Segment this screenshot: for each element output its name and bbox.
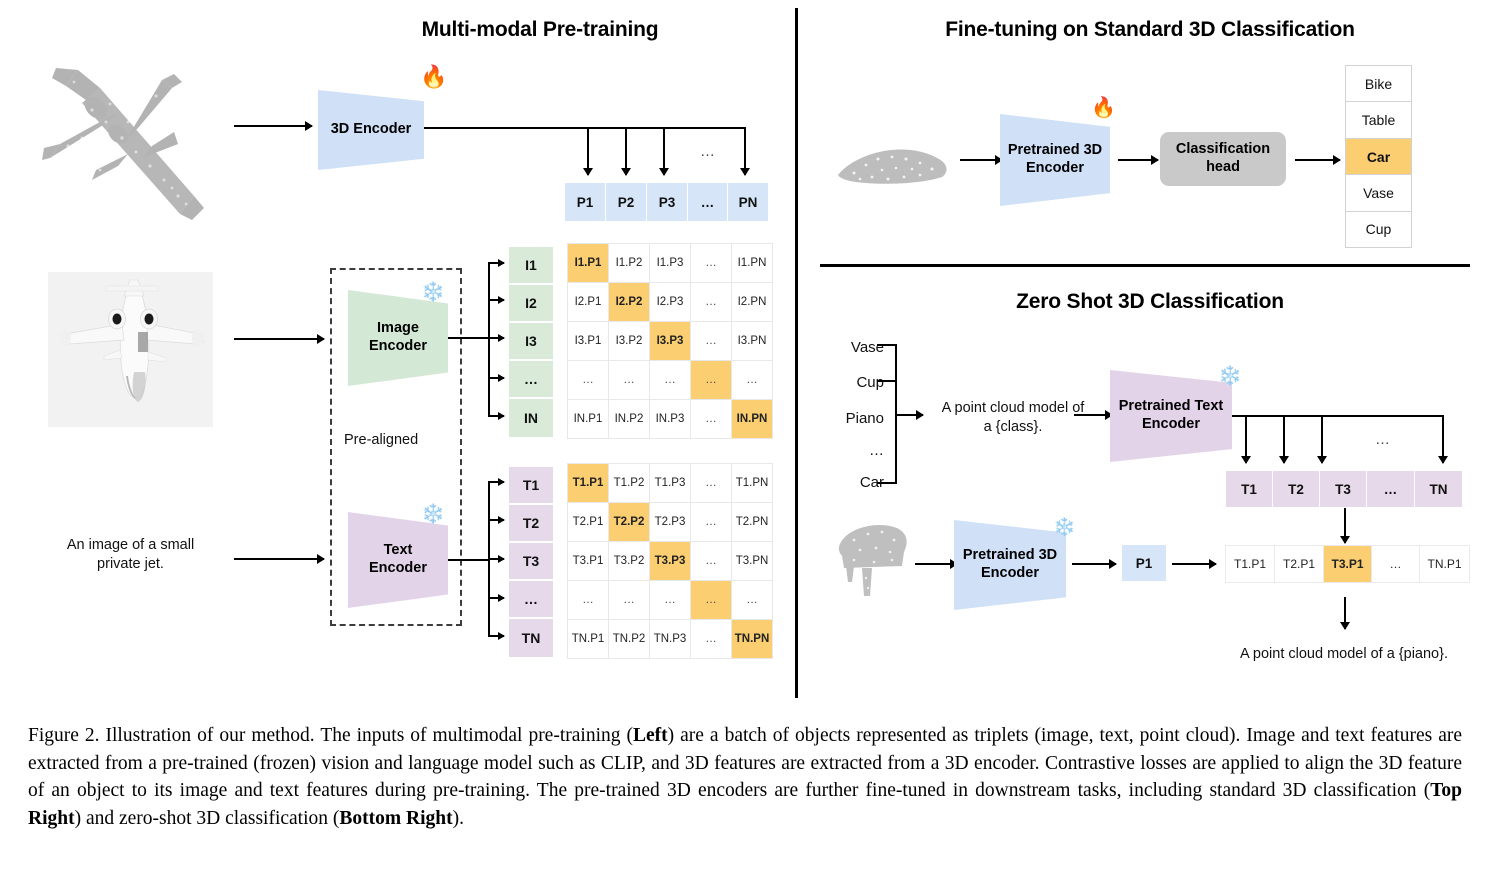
encoder-3d: 3D Encoder [318, 90, 424, 170]
text-token: T3 [1320, 471, 1367, 507]
image-matrix-cell: I1.P3 [650, 244, 690, 282]
input-text-caption: An image of a small private jet. [38, 536, 223, 574]
encoder-text: Text Encoder [348, 512, 448, 608]
image-label-column: I1 I2 I3 … IN [509, 247, 553, 437]
point-token: P3 [647, 183, 688, 221]
image-matrix-cell: I3.P1 [568, 322, 608, 360]
image-matrix-cell-diagonal: IN.PN [732, 400, 772, 438]
arrow-T3-to-scores [1344, 508, 1346, 543]
text-matrix-cell: … [650, 581, 690, 619]
score-cell: T2.P1 [1275, 546, 1323, 582]
image-matrix-cell: … [609, 361, 649, 399]
text-token: … [1367, 471, 1415, 507]
zeroshot-class-vase: Vase [822, 339, 884, 356]
arrow-to-I2 [488, 299, 504, 301]
point-token-row: P1 P2 P3 … PN [565, 183, 768, 221]
image-matrix-cell: … [650, 361, 690, 399]
text-token-row: T1 T2 T3 … TN [1226, 471, 1462, 507]
encoder-image: Image Encoder [348, 290, 448, 386]
figure-root: Multi-modal Pre-training [0, 0, 1490, 888]
airplane-point-cloud [22, 48, 227, 233]
point-token: PN [728, 183, 768, 221]
bus-ellipsis-3d: … [700, 142, 715, 162]
class-item-car[interactable]: Car [1346, 139, 1411, 175]
image-point-similarity-matrix: I1.P1I1.P2I1.P3…I1.PNI2.P1I2.P2I2.P3…I2.… [567, 243, 773, 439]
zeroshot-result: A point cloud model of a {piano}. [1204, 645, 1484, 664]
point-feature-p1: P1 [1122, 545, 1166, 581]
text-matrix-cell: T2.P1 [568, 503, 608, 541]
image-matrix-cell-diagonal: … [691, 361, 731, 399]
text-label: TN [509, 619, 553, 657]
text-matrix-cell: TN.P1 [568, 620, 608, 658]
score-cell: TN.P1 [1420, 546, 1469, 582]
arrow-piano-to-encoder [915, 563, 957, 565]
zeroshot-class-piano: Piano [822, 410, 884, 427]
image-label: I3 [509, 323, 553, 361]
pretrained-3d-encoder-label: Pretrained 3D Encoder [1008, 142, 1102, 177]
arrow-to-Idots [488, 377, 504, 379]
score-cell-highlighted: T3.P1 [1324, 546, 1371, 582]
image-encoder-stem [448, 337, 490, 339]
text-matrix-cell: … [691, 620, 731, 658]
caption-text: ). [453, 808, 464, 829]
score-cell: … [1372, 546, 1419, 582]
pretrained-3d-encoder-zeroshot: Pretrained 3D Encoder [954, 520, 1066, 610]
classification-head-label: Classification head [1176, 141, 1270, 176]
point-token: … [688, 183, 728, 221]
text-matrix-cell: T3.P1 [568, 542, 608, 580]
snowflake-icon: ❄️ [421, 283, 445, 302]
text-label: … [509, 581, 553, 619]
class-item-vase[interactable]: Vase [1346, 175, 1411, 211]
text-matrix-cell: … [691, 464, 731, 502]
image-matrix-cell: … [732, 361, 772, 399]
image-matrix-cell-diagonal: I2.P2 [609, 283, 649, 321]
point-token: P2 [606, 183, 647, 221]
pretrained-3d-encoder-zeroshot-label: Pretrained 3D Encoder [963, 547, 1057, 582]
arrow-to-T3 [488, 558, 504, 560]
image-matrix-cell: IN.P1 [568, 400, 608, 438]
text-token: TN [1415, 471, 1462, 507]
arrow-encoder-to-head [1118, 159, 1158, 161]
jet-render-image [48, 272, 213, 427]
text-matrix-cell: TN.P3 [650, 620, 690, 658]
image-label: IN [509, 399, 553, 437]
arrow-down-T2 [1283, 415, 1285, 463]
text-matrix-cell: T2.P3 [650, 503, 690, 541]
snowflake-icon: ❄️ [421, 505, 445, 524]
image-matrix-cell: … [691, 400, 731, 438]
text-matrix-cell: T1.PN [732, 464, 772, 502]
text-encoder-stem [448, 559, 490, 561]
arrow-encoder-to-p1 [1072, 563, 1116, 565]
arrow-text-to-encoder [234, 558, 324, 560]
caption-text: ) and zero-shot 3D classification ( [75, 808, 340, 829]
text-matrix-cell-diagonal: TN.PN [732, 620, 772, 658]
vertical-divider [795, 8, 798, 698]
text-label-column: T1 T2 T3 … TN [509, 467, 553, 657]
bracket-tick-car [877, 482, 897, 484]
top-right-panel-title: Fine-tuning on Standard 3D Classificatio… [830, 18, 1470, 42]
encoder-3d-label: 3D Encoder [331, 121, 412, 139]
caption-text: Figure 2. Illustration of our method. Th… [28, 725, 633, 746]
car-point-cloud [832, 135, 952, 193]
text-matrix-cell: T1.P2 [609, 464, 649, 502]
class-item-cup[interactable]: Cup [1346, 212, 1411, 247]
text-matrix-cell: … [691, 542, 731, 580]
text-matrix-cell-diagonal: T1.P1 [568, 464, 608, 502]
image-matrix-cell: IN.P2 [609, 400, 649, 438]
class-item-table[interactable]: Table [1346, 102, 1411, 138]
arrow-car-to-encoder [960, 159, 1002, 161]
arrow-down-T3 [1321, 415, 1323, 463]
bottom-right-panel-title: Zero Shot 3D Classification [830, 290, 1470, 314]
text-matrix-cell: T3.PN [732, 542, 772, 580]
image-matrix-cell-diagonal: I1.P1 [568, 244, 608, 282]
arrow-down-T1 [1245, 415, 1247, 463]
text-token: T2 [1273, 471, 1320, 507]
fire-icon: 🔥 [1091, 98, 1116, 118]
arrow-to-Tdots [488, 597, 504, 599]
text-matrix-cell: … [691, 503, 731, 541]
text-matrix-cell-diagonal: T2.P2 [609, 503, 649, 541]
arrow-scores-to-result [1344, 597, 1346, 629]
bracket-tick-cup [877, 380, 897, 382]
image-label: … [509, 361, 553, 399]
horizontal-divider [820, 264, 1470, 267]
bus-line-3d [424, 127, 746, 129]
text-label: T2 [509, 505, 553, 543]
arrow-image-to-encoder [234, 338, 324, 340]
prompt-template: A point cloud model of a {class}. [918, 399, 1108, 437]
image-matrix-cell: I3.PN [732, 322, 772, 360]
class-item-bike[interactable]: Bike [1346, 66, 1411, 102]
image-matrix-cell: I1.PN [732, 244, 772, 282]
image-fan-spine [488, 262, 490, 416]
text-matrix-cell: T3.P2 [609, 542, 649, 580]
piano-point-cloud [824, 512, 919, 597]
arrow-down-pn [744, 127, 746, 175]
arrow-head-to-classlist [1295, 159, 1340, 161]
zeroshot-class-cup: Cup [822, 374, 884, 391]
text-token: T1 [1226, 471, 1273, 507]
caption-emphasis: Bottom Right [339, 808, 452, 829]
text-matrix-cell-diagonal: T3.P3 [650, 542, 690, 580]
text-matrix-cell: T2.PN [732, 503, 772, 541]
zeroshot-class-car: Car [822, 474, 884, 491]
image-matrix-cell: I2.P1 [568, 283, 608, 321]
text-matrix-cell-diagonal: … [691, 581, 731, 619]
image-matrix-cell: I1.P2 [609, 244, 649, 282]
text-matrix-cell: … [732, 581, 772, 619]
arrow-to-TN [488, 635, 504, 637]
pretrained-text-encoder-label: Pretrained Text Encoder [1119, 398, 1224, 433]
encoder-text-label: Text Encoder [369, 542, 427, 577]
image-matrix-cell: I2.P3 [650, 283, 690, 321]
snowflake-icon: ❄️ [1218, 367, 1242, 386]
arrow-down-p1 [587, 127, 589, 175]
text-matrix-cell: … [609, 581, 649, 619]
arrow-down-TN [1442, 415, 1444, 463]
classification-head: Classification head [1160, 132, 1286, 186]
caption-emphasis: Left [633, 725, 668, 746]
class-list: Bike Table Car Vase Cup [1345, 65, 1412, 248]
text-label: T1 [509, 467, 553, 505]
arrow-to-IN [488, 415, 504, 417]
text-point-similarity-matrix: T1.P1T1.P2T1.P3…T1.PNT2.P1T2.P2T2.P3…T2.… [567, 463, 773, 659]
pretrained-text-encoder: Pretrained Text Encoder [1110, 370, 1232, 462]
image-matrix-cell: I2.PN [732, 283, 772, 321]
bus-ellipsis-text: … [1375, 430, 1390, 450]
zeroshot-class-labels: Vase Cup Piano … Car [822, 336, 892, 476]
score-cell: T1.P1 [1226, 546, 1274, 582]
arrow-to-T1 [488, 481, 504, 483]
point-token: P1 [565, 183, 606, 221]
arrow-down-p2 [625, 127, 627, 175]
arrow-pointcloud-to-3dencoder [234, 125, 312, 127]
bus-line-text [1232, 415, 1444, 417]
text-matrix-cell: … [568, 581, 608, 619]
text-matrix-cell: T1.P3 [650, 464, 690, 502]
arrow-to-I3 [488, 337, 504, 339]
arrow-to-T2 [488, 519, 504, 521]
snowflake-icon: ❄️ [1053, 518, 1075, 536]
point-feature-p1-label: P1 [1136, 556, 1153, 571]
figure-caption: Figure 2. Illustration of our method. Th… [28, 722, 1462, 833]
arrow-to-I1 [488, 262, 504, 264]
image-matrix-cell: I3.P2 [609, 322, 649, 360]
image-matrix-cell-diagonal: I3.P3 [650, 322, 690, 360]
left-panel-title: Multi-modal Pre-training [280, 18, 800, 42]
image-label: I2 [509, 285, 553, 323]
arrow-p1-to-scores [1172, 563, 1216, 565]
prealigned-label: Pre-aligned [344, 432, 418, 448]
image-matrix-cell: … [568, 361, 608, 399]
image-label: I1 [509, 247, 553, 285]
encoder-image-label: Image Encoder [369, 320, 427, 355]
zeroshot-class-dots: … [822, 442, 884, 459]
arrow-prompt-to-textencoder [1074, 414, 1112, 416]
bracket-tick-vase [877, 344, 897, 346]
image-matrix-cell: IN.P3 [650, 400, 690, 438]
arrow-down-p3 [663, 127, 665, 175]
text-matrix-cell: TN.P2 [609, 620, 649, 658]
zeroshot-score-row: T1.P1 T2.P1 T3.P1 … TN.P1 [1225, 545, 1470, 583]
image-matrix-cell: … [691, 283, 731, 321]
image-matrix-cell: … [691, 244, 731, 282]
fire-icon: 🔥 [420, 66, 447, 88]
text-label: T3 [509, 543, 553, 581]
pretrained-3d-encoder-finetune: Pretrained 3D Encoder [1000, 114, 1110, 206]
image-matrix-cell: … [691, 322, 731, 360]
